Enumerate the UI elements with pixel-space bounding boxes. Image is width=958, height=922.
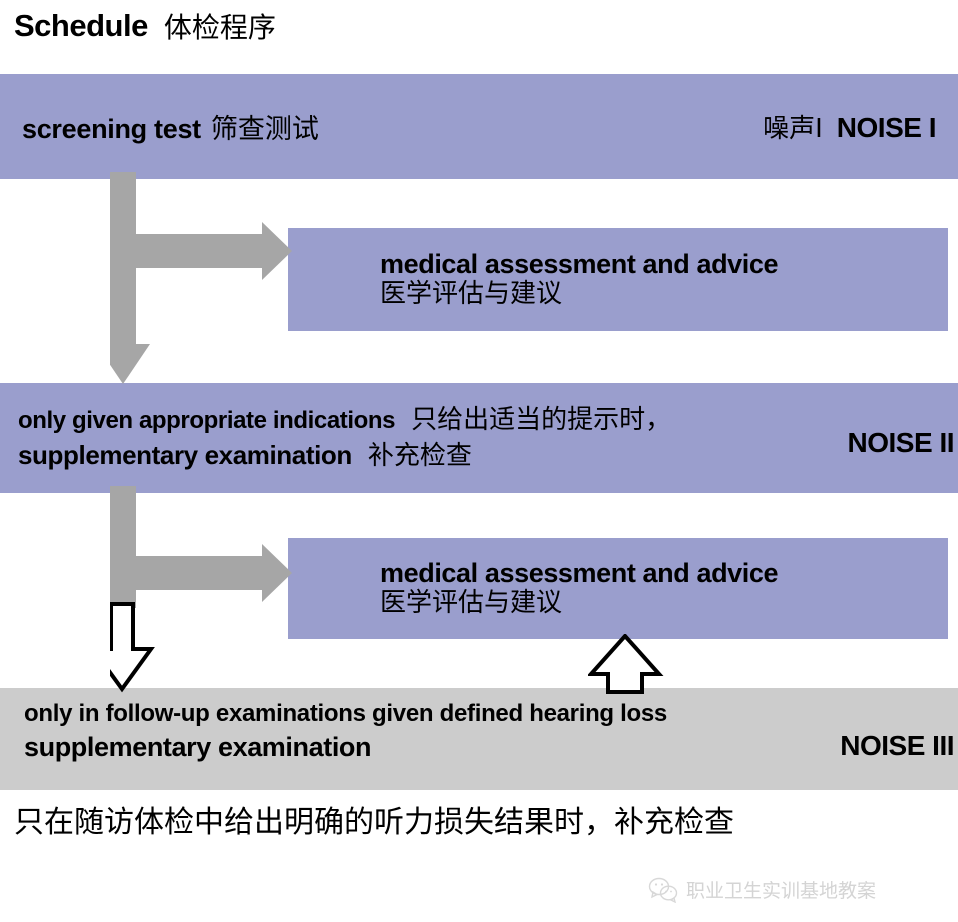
noise-2-english-line1: only given appropriate indications (18, 407, 395, 435)
medical-assessment-2-english: medical assessment and advice (380, 558, 778, 588)
noise-2-line-1: only given appropriate indications 只给出适当… (18, 399, 671, 436)
noise-3-english-line1: only in follow-up examinations given def… (24, 700, 667, 728)
medical-assessment-box-1: medical assessment and advice 医学评估与建议 (288, 228, 948, 331)
watermark-text: 职业卫生实训基地教案 (686, 876, 876, 903)
noise-1-chinese: 筛查测试 (211, 107, 319, 146)
medical-assessment-box-2: medical assessment and advice 医学评估与建议 (288, 538, 948, 639)
noise-2-english-line2: supplementary examination (18, 440, 352, 471)
arrow-down-branch-right-2 (110, 486, 310, 694)
noise-3-label-english: NOISE III (840, 730, 954, 762)
wechat-icon (648, 877, 678, 903)
noise-1-english: screening test (22, 114, 201, 145)
noise-2-line-2: supplementary examination 补充检查 (18, 435, 472, 472)
noise-3-caption-chinese: 只在随访体检中给出明确的听力损失结果时，补充检查 (14, 797, 734, 841)
noise-3-band: only in follow-up examinations given def… (0, 688, 958, 790)
noise-1-description: screening test 筛查测试 (22, 107, 319, 146)
noise-2-label-english: NOISE II (848, 427, 954, 459)
noise-2-chinese-line2: 补充检查 (368, 435, 472, 472)
watermark: 职业卫生实训基地教案 (648, 876, 876, 903)
noise-1-band: screening test 筛查测试 噪声Ⅰ NOISE I (0, 74, 958, 179)
arrow-down-outline (110, 604, 151, 689)
noise-2-band: only given appropriate indications 只给出适当… (0, 383, 958, 493)
noise-1-label-chinese: 噪声Ⅰ (763, 108, 823, 145)
medical-assessment-1-chinese: 医学评估与建议 (380, 279, 562, 310)
noise-2-chinese-line1: 只给出适当的提示时， (411, 399, 671, 436)
noise-1-label-english: NOISE I (837, 112, 936, 144)
page-title-chinese: 体检程序 (164, 6, 276, 46)
arrow-up-outline (588, 634, 668, 694)
page-title-english: Schedule (14, 8, 148, 44)
noise-1-label: 噪声Ⅰ NOISE I (763, 108, 942, 145)
noise-3-english-line2: supplementary examination (24, 732, 371, 763)
medical-assessment-2-chinese: 医学评估与建议 (380, 588, 562, 619)
page-title: Schedule 体检程序 (14, 2, 914, 50)
arrow-down-branch-right-1 (110, 172, 310, 384)
medical-assessment-1-english: medical assessment and advice (380, 249, 778, 279)
